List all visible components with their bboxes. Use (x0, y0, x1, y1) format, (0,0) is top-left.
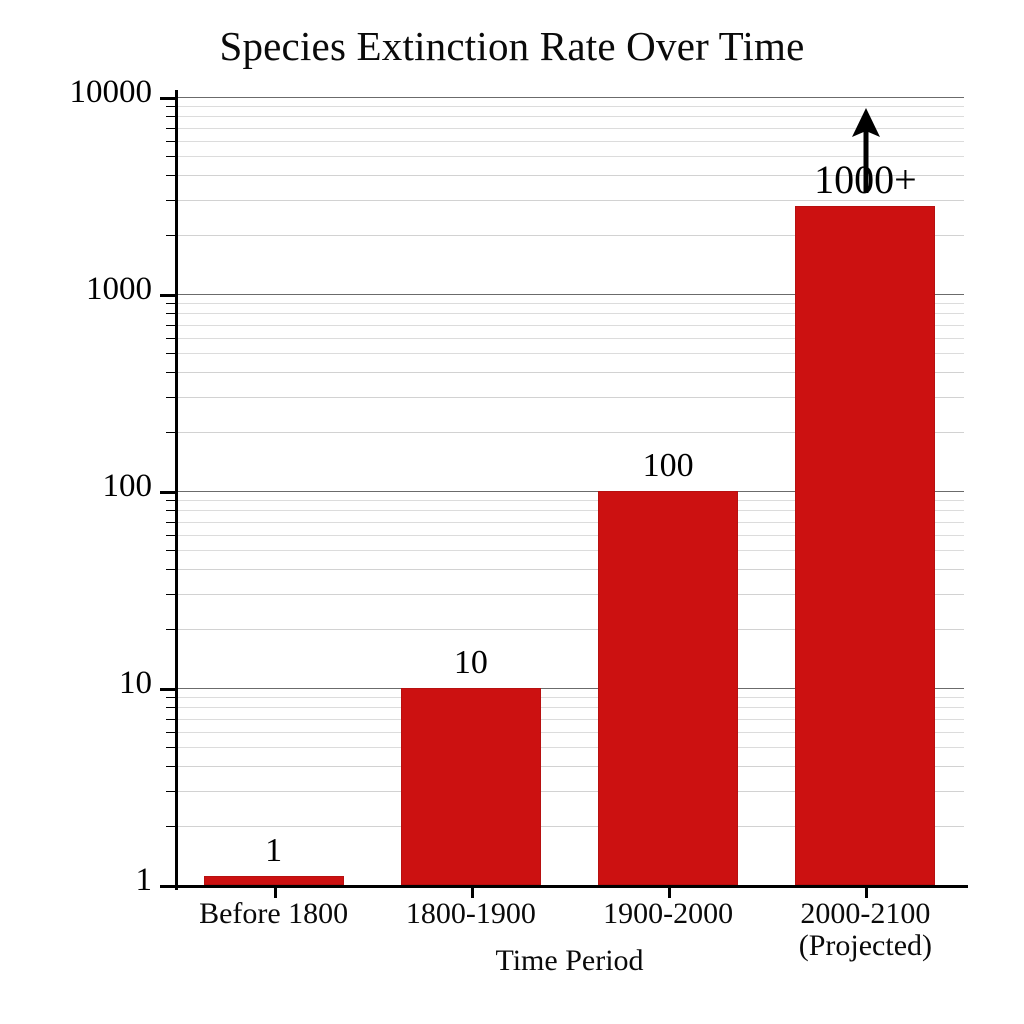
y-tick-major (160, 97, 176, 100)
y-tick-minor (166, 569, 175, 570)
y-tick-label: 100 (0, 468, 152, 505)
y-tick-minor (166, 372, 175, 373)
bar-value-label: 10 (341, 644, 601, 682)
bar[interactable] (795, 206, 935, 885)
y-tick-minor (166, 128, 175, 129)
y-tick-minor (166, 235, 175, 236)
y-tick-label: 1000 (0, 271, 152, 308)
y-tick-minor (166, 303, 175, 304)
y-tick-minor (166, 697, 175, 698)
y-tick-major (160, 294, 176, 297)
bar-value-label: 1 (144, 832, 404, 870)
y-tick-label: 10 (0, 665, 152, 702)
y-tick-minor (166, 594, 175, 595)
y-tick-minor (166, 732, 175, 733)
bar[interactable] (401, 688, 541, 885)
y-tick-label: 1 (0, 862, 152, 899)
x-tick-label: 1900-2000 (564, 898, 773, 930)
y-tick-minor (166, 747, 175, 748)
y-tick-minor (166, 522, 175, 523)
y-tick-minor (166, 313, 175, 314)
x-tick-label: Before 1800 (169, 898, 378, 930)
y-tick-minor (166, 116, 175, 117)
y-tick-minor (166, 500, 175, 501)
y-tick-minor (166, 141, 175, 142)
y-tick-major (160, 491, 176, 494)
x-axis-spine (168, 885, 968, 888)
y-tick-minor (166, 535, 175, 536)
y-tick-minor (166, 175, 175, 176)
y-tick-minor (166, 766, 175, 767)
y-tick-minor (166, 338, 175, 339)
bar[interactable] (598, 491, 738, 885)
y-tick-minor (166, 156, 175, 157)
y-axis-spine (175, 90, 178, 890)
bar-value-label: 100 (538, 447, 798, 485)
chart-figure: Species Extinction Rate Over Time Extinc… (0, 0, 1024, 1024)
gridline-major (175, 97, 964, 98)
y-tick-major (160, 688, 176, 691)
up-arrow-icon (836, 105, 896, 195)
y-tick-minor (166, 353, 175, 354)
y-tick-minor (166, 325, 175, 326)
y-tick-minor (166, 707, 175, 708)
y-tick-minor (166, 719, 175, 720)
y-tick-minor (166, 200, 175, 201)
y-tick-minor (166, 791, 175, 792)
y-tick-minor (166, 550, 175, 551)
plot-area (175, 97, 964, 885)
page-title: Species Extinction Rate Over Time (0, 22, 1024, 70)
y-tick-label: 10000 (0, 74, 152, 111)
y-tick-minor (166, 106, 175, 107)
x-tick-label: 1800-1900 (366, 898, 575, 930)
y-tick-minor (166, 397, 175, 398)
y-tick-minor (166, 826, 175, 827)
y-tick-major (160, 885, 176, 888)
y-tick-minor (166, 432, 175, 433)
bar[interactable] (204, 876, 344, 885)
y-tick-minor (166, 629, 175, 630)
x-tick-label: 2000-2100 (Projected) (761, 898, 970, 963)
y-tick-minor (166, 510, 175, 511)
